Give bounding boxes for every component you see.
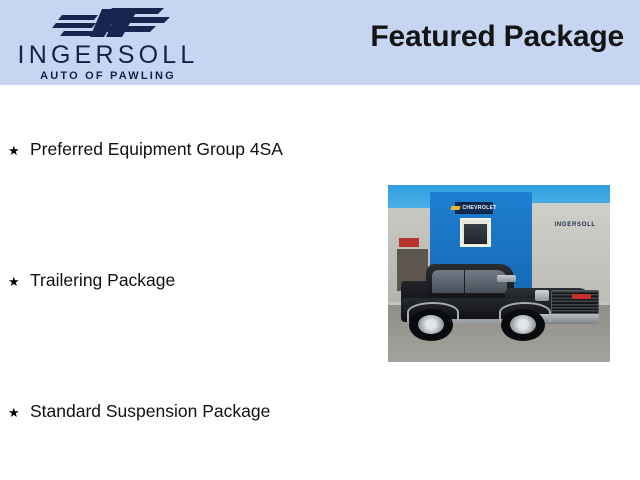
star-bullet-icon: ★ bbox=[8, 140, 30, 162]
truck-window-pillar bbox=[464, 270, 466, 294]
chevrolet-sign: CHEVROLET bbox=[455, 202, 494, 214]
feature-label: Preferred Equipment Group 4SA bbox=[30, 138, 283, 160]
truck-headlight bbox=[535, 290, 550, 301]
chevrolet-bowtie-icon bbox=[451, 206, 461, 210]
star-bullet-icon: ★ bbox=[8, 271, 30, 293]
dealer-logo: INGERSOLL AUTO OF PAWLING bbox=[8, 4, 208, 82]
ingersoll-building-sign: INGERSOLL bbox=[555, 219, 611, 231]
truck-front-wheel bbox=[501, 309, 545, 341]
list-item: ★ Preferred Equipment Group 4SA bbox=[8, 138, 283, 162]
page-header: INGERSOLL AUTO OF PAWLING Featured Packa… bbox=[0, 0, 640, 85]
star-bullet-icon: ★ bbox=[8, 402, 30, 424]
photo-red-sign bbox=[399, 238, 419, 247]
feature-label: Standard Suspension Package bbox=[30, 400, 270, 422]
logo-tagline: AUTO OF PAWLING bbox=[8, 70, 208, 82]
list-item: ★ Trailering Package bbox=[8, 269, 175, 293]
chevrolet-sign-label: CHEVROLET bbox=[462, 205, 496, 211]
gmc-badge-icon bbox=[572, 294, 591, 299]
logo-wordmark: INGERSOLL bbox=[8, 42, 208, 69]
list-item: ★ Standard Suspension Package bbox=[8, 400, 270, 424]
photo-truck bbox=[397, 259, 606, 344]
photo-service-bay bbox=[460, 218, 492, 246]
truck-windows bbox=[432, 270, 507, 294]
ingersoll-sign-label: INGERSOLL bbox=[555, 222, 596, 228]
feature-label: Trailering Package bbox=[30, 269, 175, 291]
truck-side-mirror bbox=[497, 275, 516, 283]
ingersoll-wing-monogram-icon bbox=[52, 6, 174, 40]
page-title: Featured Package bbox=[370, 20, 624, 54]
truck-rear-wheel bbox=[409, 309, 453, 341]
vehicle-photo: CHEVROLET INGERSOLL bbox=[388, 185, 610, 362]
